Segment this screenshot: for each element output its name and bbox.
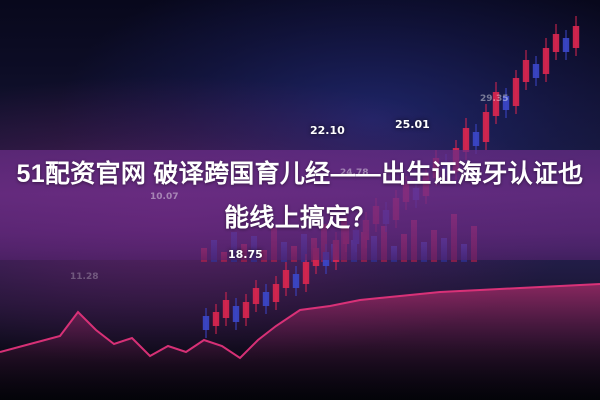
area-trend-group bbox=[0, 284, 600, 400]
candle-body bbox=[543, 48, 549, 74]
candle-body bbox=[233, 306, 239, 322]
candle-body bbox=[243, 302, 249, 318]
candle-body bbox=[533, 64, 539, 78]
area-trend-fill bbox=[0, 284, 600, 400]
candle-body bbox=[463, 128, 469, 152]
candle-body bbox=[223, 300, 229, 318]
promo-banner-image: 11.2810.0718.7522.1024.7825.0129.35 51配资… bbox=[0, 0, 600, 400]
candle-body bbox=[513, 78, 519, 106]
candle-body bbox=[303, 262, 309, 284]
price-annotation-label: 22.10 bbox=[310, 124, 345, 137]
price-annotation-label: 25.01 bbox=[395, 118, 430, 131]
candle-body bbox=[553, 34, 559, 52]
candle-body bbox=[263, 292, 269, 306]
candle-body bbox=[293, 274, 299, 288]
candle-body bbox=[203, 316, 209, 330]
candle-body bbox=[273, 284, 279, 302]
candle-body bbox=[523, 60, 529, 82]
candle-body bbox=[483, 112, 489, 142]
price-annotation-label: 18.75 bbox=[228, 248, 263, 261]
price-annotation-label: 11.28 bbox=[70, 272, 98, 282]
price-annotation-label: 29.35 bbox=[480, 94, 508, 104]
candle-body bbox=[283, 270, 289, 288]
candle-body bbox=[213, 312, 219, 326]
candle-body bbox=[573, 26, 579, 48]
candle-body bbox=[253, 288, 259, 304]
page-title: 51配资官网 破译跨国育儿经——出生证海牙认证也 能线上搞定？ bbox=[0, 152, 600, 240]
candle-body bbox=[473, 132, 479, 146]
candle-body bbox=[563, 38, 569, 52]
